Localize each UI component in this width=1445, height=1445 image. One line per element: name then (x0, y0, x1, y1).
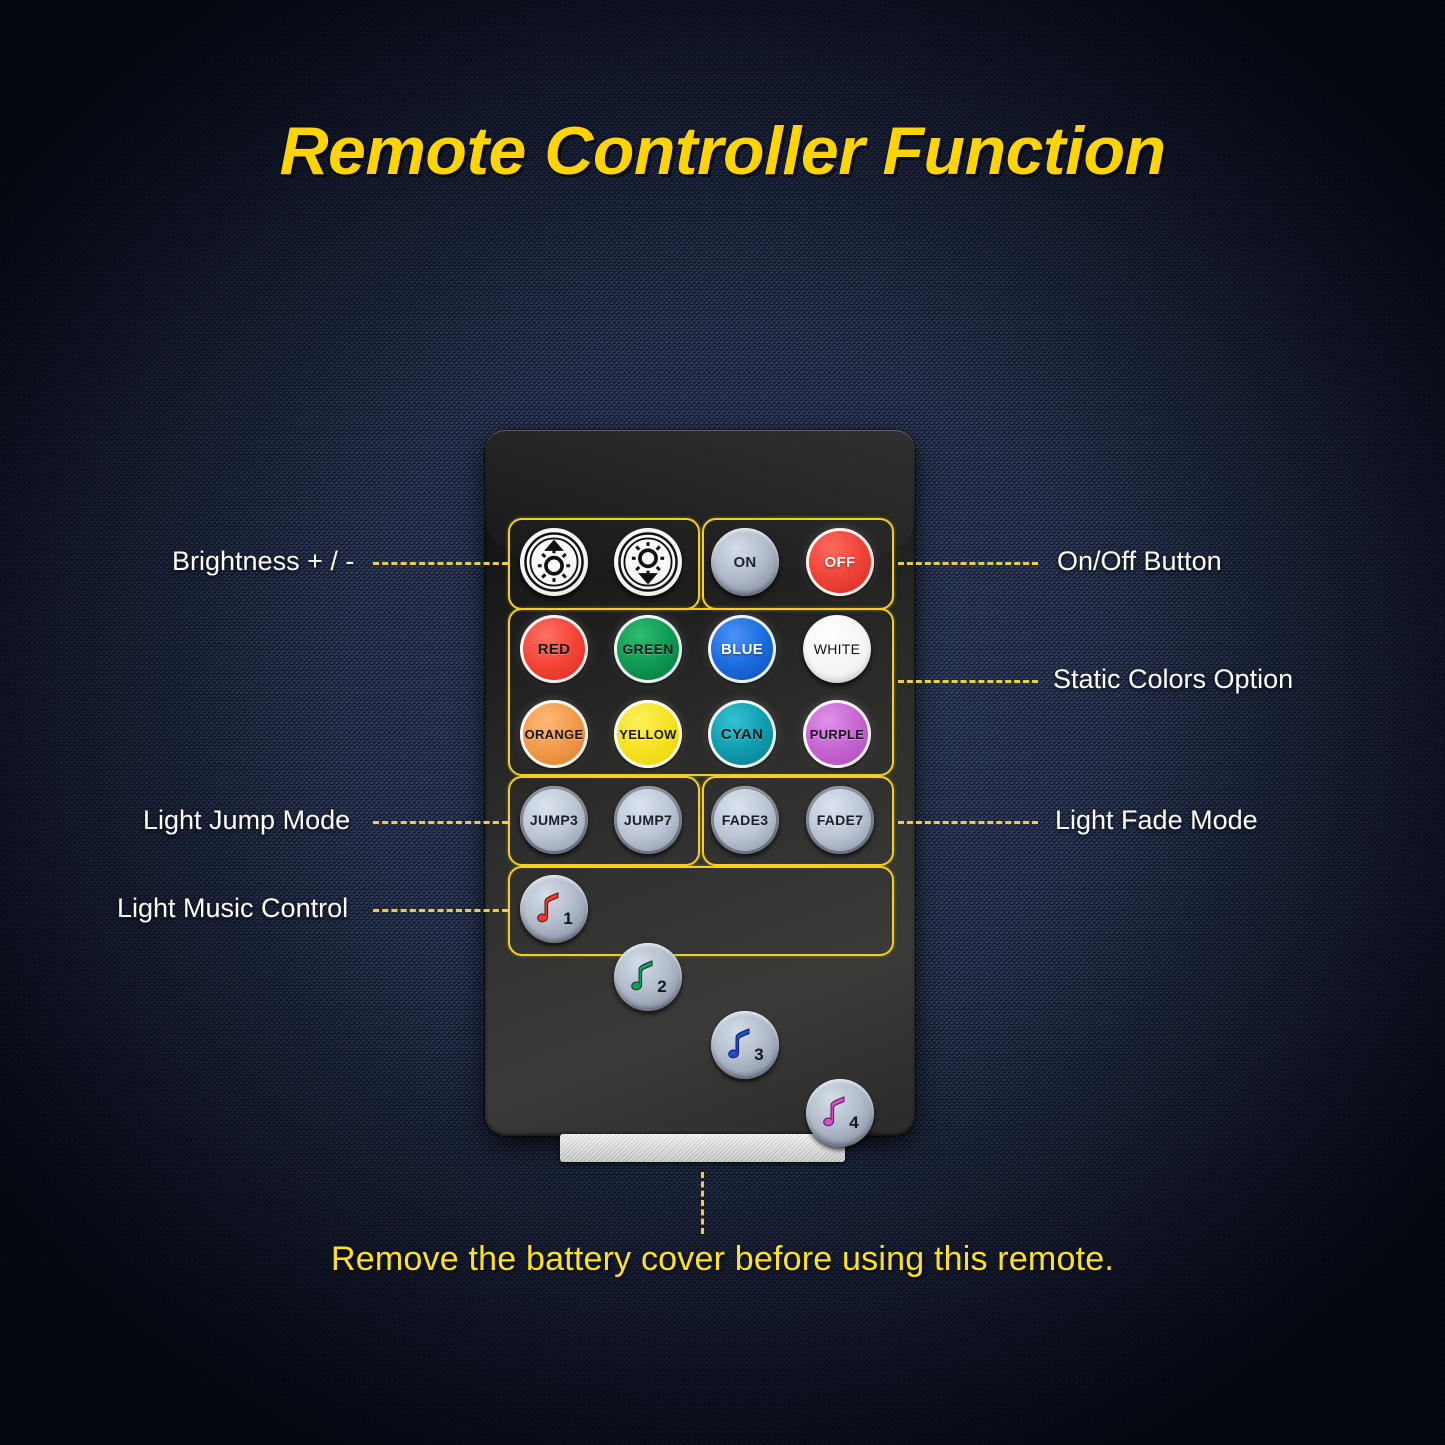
music4-button[interactable]: 4 (806, 1079, 874, 1147)
color-blue-label: BLUE (721, 641, 763, 658)
music-note-icon (630, 959, 660, 993)
color-green-button[interactable]: GREEN (614, 615, 682, 683)
jump7-button[interactable]: JUMP7 (614, 786, 682, 854)
label-brightness: Brightness + / - (172, 546, 354, 577)
sun-down-icon (617, 531, 679, 593)
color-white-label: WHITE (814, 641, 861, 657)
sun-up-icon (523, 531, 585, 593)
color-purple-label: PURPLE (810, 727, 865, 742)
color-purple-button[interactable]: PURPLE (803, 700, 871, 768)
on-button-label: ON (733, 554, 756, 571)
leader-onoff (898, 562, 1038, 565)
color-green-label: GREEN (622, 641, 673, 657)
music-note-icon (822, 1095, 852, 1129)
color-yellow-button[interactable]: YELLOW (614, 700, 682, 768)
label-onoff: On/Off Button (1057, 546, 1222, 577)
music-note-icon (727, 1027, 757, 1061)
music3-button[interactable]: 3 (711, 1011, 779, 1079)
color-white-button[interactable]: WHITE (803, 615, 871, 683)
leader-static-colors (898, 680, 1038, 683)
music3-label: 3 (754, 1045, 764, 1065)
off-button[interactable]: OFF (806, 528, 874, 596)
color-orange-button[interactable]: ORANGE (520, 700, 588, 768)
fade7-button[interactable]: FADE7 (806, 786, 874, 854)
leader-jump-mode (373, 821, 508, 824)
music1-label: 1 (563, 909, 573, 929)
product-diagram: Remote Controller Function (0, 0, 1445, 1445)
leader-music-control (373, 909, 508, 912)
music2-label: 2 (657, 977, 667, 997)
fade3-label: FADE3 (722, 812, 769, 828)
leader-battery-cover (701, 1172, 704, 1234)
brightness-up-button[interactable] (520, 528, 588, 596)
jump3-label: JUMP3 (530, 812, 578, 828)
leader-fade-mode (898, 821, 1038, 824)
fade7-label: FADE7 (817, 812, 864, 828)
jump7-label: JUMP7 (624, 812, 672, 828)
color-cyan-button[interactable]: CYAN (708, 700, 776, 768)
battery-cover-tab[interactable] (560, 1134, 845, 1162)
off-button-label: OFF (825, 554, 856, 571)
label-jump-mode: Light Jump Mode (143, 805, 350, 836)
color-yellow-label: YELLOW (619, 727, 676, 742)
music-note-icon (536, 891, 566, 925)
leader-brightness (373, 562, 508, 565)
music4-label: 4 (849, 1113, 859, 1133)
brightness-down-button[interactable] (614, 528, 682, 596)
label-static-colors: Static Colors Option (1053, 664, 1293, 695)
color-orange-label: ORANGE (525, 727, 584, 742)
battery-cover-caption: Remove the battery cover before using th… (0, 1240, 1445, 1279)
fade3-button[interactable]: FADE3 (711, 786, 779, 854)
color-red-button[interactable]: RED (520, 615, 588, 683)
color-red-label: RED (538, 641, 571, 658)
label-fade-mode: Light Fade Mode (1055, 805, 1258, 836)
page-title: Remote Controller Function (0, 112, 1445, 190)
music1-button[interactable]: 1 (520, 875, 588, 943)
on-button[interactable]: ON (711, 528, 779, 596)
color-cyan-label: CYAN (721, 726, 763, 743)
label-music-control: Light Music Control (117, 893, 348, 924)
color-blue-button[interactable]: BLUE (708, 615, 776, 683)
music2-button[interactable]: 2 (614, 943, 682, 1011)
jump3-button[interactable]: JUMP3 (520, 786, 588, 854)
